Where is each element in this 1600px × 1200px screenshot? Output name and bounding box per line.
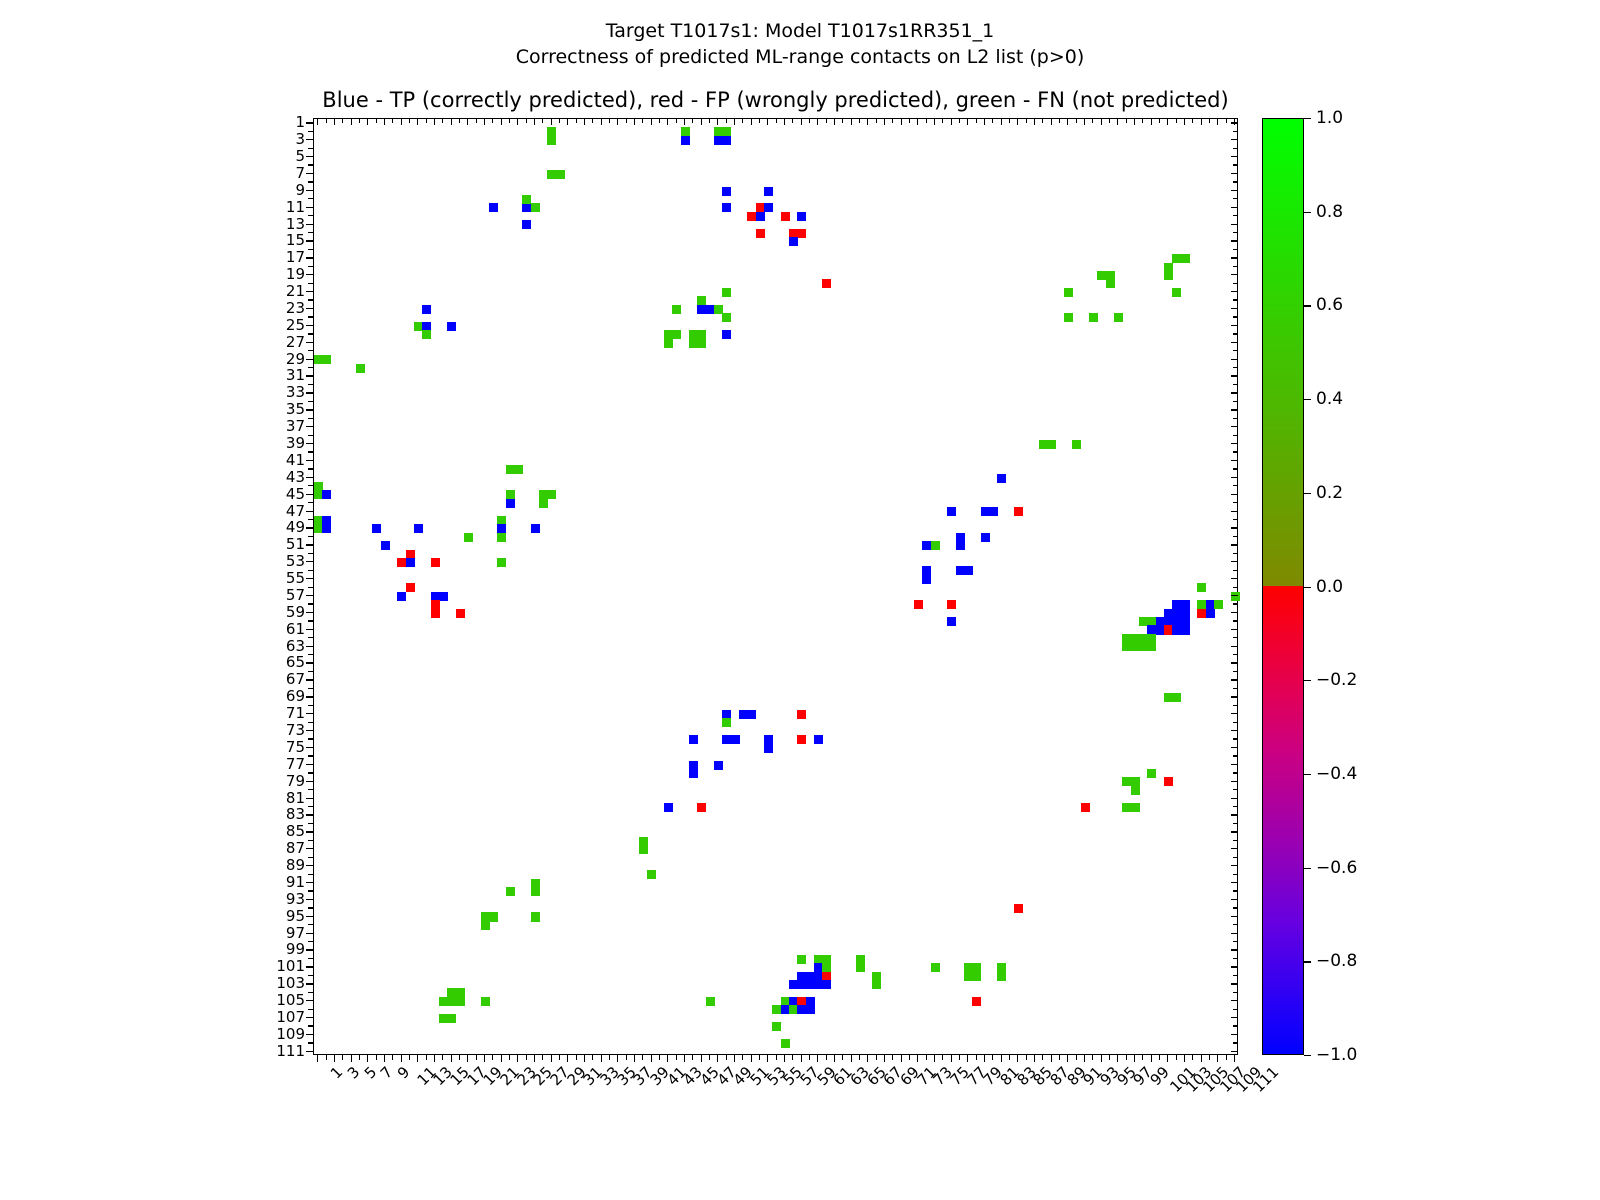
x-tick-top [359, 118, 360, 123]
y-tick [306, 1017, 313, 1018]
y-axis-tick-label: 89 [286, 856, 305, 874]
contact-cell [1072, 440, 1081, 449]
y-tick-right [1233, 350, 1238, 351]
y-tick [306, 747, 313, 748]
y-tick-right [1233, 924, 1238, 925]
contact-cell [406, 583, 415, 592]
y-tick [308, 823, 313, 824]
x-tick [692, 1055, 693, 1060]
y-tick [306, 764, 313, 765]
contact-cell [764, 203, 773, 212]
contact-cell [1089, 313, 1098, 322]
y-tick-right [1231, 1051, 1238, 1052]
y-tick-right [1233, 266, 1238, 267]
y-tick [306, 595, 313, 596]
y-axis-tick-label: 71 [286, 704, 305, 722]
y-tick-right [1231, 865, 1238, 866]
x-tick [1217, 1055, 1218, 1062]
y-axis-tick-label: 25 [286, 316, 305, 334]
colorbar-tick [1304, 868, 1311, 869]
colorbar-tick-label: −0.2 [1316, 670, 1357, 690]
contact-cell [664, 338, 673, 347]
x-tick-top [784, 118, 785, 125]
y-tick-right [1231, 477, 1238, 478]
x-tick [951, 1055, 952, 1062]
y-axis-tick-label: 103 [276, 974, 305, 992]
y-tick-right [1233, 587, 1238, 588]
contact-cell [672, 330, 681, 339]
x-tick [401, 1055, 402, 1062]
x-tick-top [401, 118, 402, 125]
x-tick [651, 1055, 652, 1062]
x-tick [484, 1055, 485, 1062]
x-tick [851, 1055, 852, 1062]
contact-cell [722, 203, 731, 212]
y-tick [308, 299, 313, 300]
y-tick [308, 451, 313, 452]
y-tick [306, 781, 313, 782]
x-tick [1117, 1055, 1118, 1062]
y-tick-right [1233, 418, 1238, 419]
contact-cell [456, 609, 465, 618]
x-tick-top [384, 118, 385, 125]
y-tick-right [1233, 131, 1238, 132]
x-tick [659, 1055, 660, 1060]
x-tick-top [567, 118, 568, 125]
x-tick [359, 1055, 360, 1060]
x-tick-top [917, 118, 918, 125]
y-tick-right [1233, 1009, 1238, 1010]
y-axis-tick-label: 33 [286, 383, 305, 401]
contact-cell [689, 769, 698, 778]
y-tick [306, 477, 313, 478]
x-tick-top [1051, 118, 1052, 125]
contact-cell [706, 997, 715, 1006]
x-tick [526, 1055, 527, 1060]
y-tick-right [1231, 916, 1238, 917]
y-tick [306, 494, 313, 495]
contact-cell [989, 507, 998, 516]
x-tick [959, 1055, 960, 1060]
x-tick [609, 1055, 610, 1060]
y-tick [306, 257, 313, 258]
contact-cell [947, 600, 956, 609]
contact-cell [1114, 313, 1123, 322]
x-tick [1209, 1055, 1210, 1060]
x-tick [576, 1055, 577, 1060]
x-tick [1192, 1055, 1193, 1060]
y-axis-tick-label: 13 [286, 215, 305, 233]
y-tick-right [1231, 983, 1238, 984]
y-axis-tick-label: 47 [286, 502, 305, 520]
x-tick-top [501, 118, 502, 125]
y-tick-right [1231, 1017, 1238, 1018]
contact-cell [1106, 279, 1115, 288]
figure-suptitle: Target T1017s1: Model T1017s1RR351_1 Cor… [0, 18, 1600, 70]
y-tick [306, 375, 313, 376]
x-tick-top [509, 118, 510, 123]
colorbar-tick-label: 0.2 [1316, 483, 1343, 503]
colorbar-tick [1304, 680, 1311, 681]
x-tick [876, 1055, 877, 1060]
y-tick-right [1233, 451, 1238, 452]
contact-cell [756, 229, 765, 238]
contact-cell [1197, 583, 1206, 592]
contact-cell [531, 524, 540, 533]
x-axis-tick-label: 9 [394, 1063, 413, 1082]
y-tick [306, 342, 313, 343]
x-tick-top [959, 118, 960, 123]
contact-cell [1231, 592, 1240, 601]
y-axis-tick-label: 19 [286, 265, 305, 283]
contact-cell [972, 972, 981, 981]
y-tick [306, 730, 313, 731]
y-tick-right [1231, 156, 1238, 157]
x-tick-top [1234, 118, 1235, 125]
y-axis-tick-label: 45 [286, 485, 305, 503]
y-tick-right [1231, 325, 1238, 326]
x-axis-tick-label: 3 [344, 1063, 363, 1082]
colorbar-tick [1304, 212, 1311, 213]
axes-title: Blue - TP (correctly predicted), red - F… [313, 88, 1238, 112]
x-tick-top [609, 118, 610, 123]
x-axis-tick-label: 5 [360, 1063, 379, 1082]
y-axis-tick-label: 107 [276, 1008, 305, 1026]
x-tick [976, 1055, 977, 1060]
contact-cell [422, 330, 431, 339]
contact-cell [972, 997, 981, 1006]
x-tick-top [976, 118, 977, 123]
x-tick-top [767, 118, 768, 125]
contact-cell [764, 187, 773, 196]
y-axis-tick-label: 5 [295, 147, 305, 165]
suptitle-line-2: Correctness of predicted ML-range contac… [0, 44, 1600, 70]
y-tick [306, 679, 313, 680]
x-tick [1084, 1055, 1085, 1062]
y-tick-right [1231, 662, 1238, 663]
x-tick-top [326, 118, 327, 123]
x-tick-top [967, 118, 968, 125]
y-tick [306, 882, 313, 883]
contact-cell [1147, 769, 1156, 778]
x-tick [734, 1055, 735, 1062]
contact-cell [789, 237, 798, 246]
x-tick [451, 1055, 452, 1062]
y-tick-right [1233, 890, 1238, 891]
y-tick [306, 865, 313, 866]
y-tick [308, 738, 313, 739]
x-tick-top [601, 118, 602, 125]
contact-cell [522, 220, 531, 229]
y-tick-right [1233, 722, 1238, 723]
colorbar-tick [1304, 1055, 1311, 1056]
x-tick-top [1084, 118, 1085, 125]
y-tick [306, 207, 313, 208]
x-tick-top [809, 118, 810, 123]
contact-cell [431, 609, 440, 618]
contact-cell [922, 575, 931, 584]
x-tick-top [851, 118, 852, 125]
x-tick-top [1042, 118, 1043, 123]
x-tick-top [1076, 118, 1077, 123]
y-tick-right [1233, 772, 1238, 773]
x-tick-top [834, 118, 835, 125]
x-tick-top [709, 118, 710, 123]
contact-cell [931, 963, 940, 972]
x-tick-top [717, 118, 718, 125]
y-tick-right [1233, 333, 1238, 334]
y-axis-tick-label: 75 [286, 738, 305, 756]
y-tick [308, 181, 313, 182]
contact-cell [639, 845, 648, 854]
y-tick [308, 890, 313, 891]
x-tick-top [884, 118, 885, 125]
x-tick-top [426, 118, 427, 123]
contact-cell [931, 541, 940, 550]
x-tick [567, 1055, 568, 1062]
y-tick [308, 637, 313, 638]
y-tick [308, 148, 313, 149]
y-tick [306, 291, 313, 292]
x-tick-top [459, 118, 460, 123]
x-tick-top [801, 118, 802, 125]
contact-cell [956, 541, 965, 550]
y-axis-tick-label: 3 [295, 130, 305, 148]
y-tick [306, 814, 313, 815]
colorbar-tick [1304, 399, 1311, 400]
x-tick [1042, 1055, 1043, 1060]
x-tick [667, 1055, 668, 1062]
y-tick [306, 578, 313, 579]
x-tick [934, 1055, 935, 1062]
x-tick-top [651, 118, 652, 125]
x-tick [776, 1055, 777, 1060]
y-tick-right [1231, 224, 1238, 225]
y-tick-right [1231, 460, 1238, 461]
colorbar-tick [1304, 493, 1311, 494]
colorbar-tick [1304, 118, 1311, 119]
y-axis-tick-label: 35 [286, 400, 305, 418]
x-tick-top [1126, 118, 1127, 123]
x-tick-top [867, 118, 868, 125]
contact-cell [356, 364, 365, 373]
y-axis-tick-label: 1 [295, 113, 305, 131]
x-tick [842, 1055, 843, 1060]
y-tick [308, 570, 313, 571]
y-tick [306, 949, 313, 950]
contact-cell [414, 524, 423, 533]
y-tick [308, 131, 313, 132]
x-tick-top [1067, 118, 1068, 125]
x-tick [626, 1055, 627, 1060]
x-tick [901, 1055, 902, 1062]
y-tick-right [1231, 646, 1238, 647]
x-tick [342, 1055, 343, 1060]
y-axis-tick-label: 15 [286, 231, 305, 249]
y-axis-tick-label: 73 [286, 721, 305, 739]
y-axis-tick-label: 85 [286, 822, 305, 840]
contact-cell [456, 997, 465, 1006]
y-axis-tick-label: 81 [286, 789, 305, 807]
x-tick [767, 1055, 768, 1062]
y-tick-right [1231, 190, 1238, 191]
x-tick [1101, 1055, 1102, 1062]
x-tick [592, 1055, 593, 1060]
x-tick-top [1134, 118, 1135, 125]
contact-cell [447, 1014, 456, 1023]
colorbar-tick-label: 0.6 [1316, 295, 1343, 315]
contact-cell [1131, 803, 1140, 812]
contact-cell [1172, 693, 1181, 702]
contact-cell [697, 803, 706, 812]
x-tick-top [926, 118, 927, 123]
x-tick [784, 1055, 785, 1062]
contact-cell [531, 887, 540, 896]
y-tick [308, 333, 313, 334]
x-tick-top [684, 118, 685, 125]
x-tick-top [1092, 118, 1093, 123]
y-tick-right [1233, 316, 1238, 317]
contact-cell [1131, 786, 1140, 795]
x-tick-top [634, 118, 635, 125]
x-tick-top [667, 118, 668, 125]
y-tick-right [1233, 789, 1238, 790]
colorbar-tick-label: 0.4 [1316, 389, 1343, 409]
contact-map-plot[interactable] [313, 118, 1238, 1055]
x-tick-top [692, 118, 693, 123]
x-tick [1159, 1055, 1160, 1060]
contact-cell [522, 195, 531, 204]
contact-cell [514, 465, 523, 474]
y-tick-right [1231, 274, 1238, 275]
contact-cell [481, 921, 490, 930]
y-tick [306, 1000, 313, 1001]
contact-cell [1047, 440, 1056, 449]
colorbar-tick-label: 1.0 [1316, 108, 1343, 128]
contact-cell [531, 879, 540, 888]
x-tick-top [776, 118, 777, 123]
y-tick-right [1233, 485, 1238, 486]
y-tick [308, 198, 313, 199]
y-tick [308, 620, 313, 621]
contact-cell [1064, 288, 1073, 297]
contact-cell [647, 870, 656, 879]
x-tick [1234, 1055, 1235, 1062]
x-tick-top [726, 118, 727, 123]
x-tick-top [392, 118, 393, 123]
x-tick [509, 1055, 510, 1060]
y-tick [306, 848, 313, 849]
y-tick-right [1231, 544, 1238, 545]
x-tick [817, 1055, 818, 1062]
y-tick [306, 1051, 313, 1052]
y-tick [306, 646, 313, 647]
x-tick-top [1192, 118, 1193, 123]
y-tick-right [1231, 561, 1238, 562]
contact-cell [547, 136, 556, 145]
contact-cell [556, 170, 565, 179]
contact-cell [447, 322, 456, 331]
colorbar-tick-label: −0.8 [1316, 951, 1357, 971]
y-axis-tick-label: 53 [286, 552, 305, 570]
x-tick [984, 1055, 985, 1062]
contact-cell [747, 710, 756, 719]
y-tick-right [1233, 603, 1238, 604]
y-tick-right [1231, 527, 1238, 528]
x-tick [376, 1055, 377, 1060]
y-tick-right [1231, 494, 1238, 495]
y-tick [308, 367, 313, 368]
x-tick [367, 1055, 368, 1062]
x-tick-top [617, 118, 618, 125]
y-axis-tick-label: 105 [276, 991, 305, 1009]
y-tick [308, 992, 313, 993]
y-axis-tick-label: 55 [286, 569, 305, 587]
y-tick-right [1233, 468, 1238, 469]
x-tick [384, 1055, 385, 1062]
y-tick [308, 401, 313, 402]
x-tick-top [1201, 118, 1202, 125]
x-tick-top [1117, 118, 1118, 125]
x-tick [867, 1055, 868, 1062]
y-tick [306, 933, 313, 934]
contact-cell [1206, 609, 1215, 618]
y-axis-tick-label: 97 [286, 924, 305, 942]
contact-cell [381, 541, 390, 550]
x-tick-top [909, 118, 910, 123]
x-tick-top [576, 118, 577, 123]
y-tick-right [1231, 831, 1238, 832]
y-tick [306, 409, 313, 410]
y-tick-right [1233, 553, 1238, 554]
x-tick [892, 1055, 893, 1060]
y-tick-right [1231, 730, 1238, 731]
y-tick [306, 696, 313, 697]
x-tick [1142, 1055, 1143, 1060]
contact-cell [1064, 313, 1073, 322]
contact-cell [997, 474, 1006, 483]
contact-cell [814, 735, 823, 744]
y-tick [308, 705, 313, 706]
y-tick [308, 789, 313, 790]
y-axis-tick-label: 63 [286, 637, 305, 655]
x-tick-top [1151, 118, 1152, 125]
contact-cell [489, 912, 498, 921]
contact-cell [947, 617, 956, 626]
y-tick [308, 164, 313, 165]
y-tick-right [1231, 426, 1238, 427]
y-tick-right [1233, 283, 1238, 284]
contact-cell [772, 1022, 781, 1031]
y-tick [306, 139, 313, 140]
contact-map-cells [314, 119, 1237, 1054]
contact-cell [722, 187, 731, 196]
y-tick-right [1231, 1034, 1238, 1035]
contact-cell [431, 558, 440, 567]
y-tick [308, 806, 313, 807]
x-tick [417, 1055, 418, 1062]
x-tick [542, 1055, 543, 1060]
contact-cell [1014, 507, 1023, 516]
y-axis-tick-label: 39 [286, 434, 305, 452]
x-tick-top [551, 118, 552, 125]
y-tick-right [1233, 536, 1238, 537]
x-tick-top [1209, 118, 1210, 123]
y-axis-tick-label: 99 [286, 940, 305, 958]
contact-cell [964, 566, 973, 575]
x-tick [884, 1055, 885, 1062]
y-tick [306, 966, 313, 967]
